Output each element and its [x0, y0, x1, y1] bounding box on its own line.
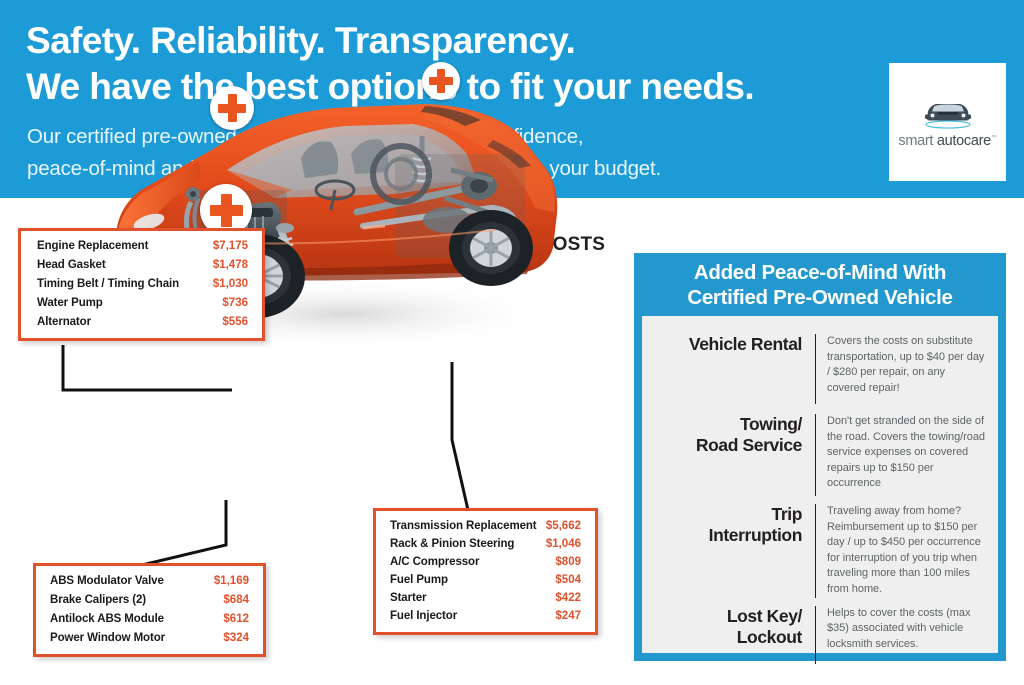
table-row: ABS Modulator Valve $1,169	[50, 575, 249, 587]
table-row: Fuel Injector $247	[390, 610, 581, 622]
table-row: Transmission Replacement $5,662	[390, 520, 581, 532]
cost-table-brakes: ABS Modulator Valve $1,169 Brake Caliper…	[33, 563, 266, 657]
plus-vertical-bar	[221, 194, 232, 227]
cost-value: $422	[555, 592, 581, 604]
cost-value: $504	[555, 574, 581, 586]
cost-table-engine: Engine Replacement $7,175 Head Gasket $1…	[18, 228, 265, 341]
benefit-term-line-1: Trip	[652, 504, 802, 525]
table-row: Rack & Pinion Steering $1,046	[390, 538, 581, 550]
cost-label: Starter	[390, 592, 426, 604]
cost-label: ABS Modulator Valve	[50, 575, 164, 587]
cost-value: $612	[223, 613, 249, 625]
cost-label: Power Window Motor	[50, 632, 165, 644]
cost-value: $1,046	[546, 538, 581, 550]
benefit-term-line-1: Lost Key/	[652, 606, 802, 627]
list-item: Lost Key/ Lockout Helps to cover the cos…	[652, 606, 986, 664]
benefits-panel: Added Peace-of-Mind With Certified Pre-O…	[634, 253, 1006, 661]
table-row: Power Window Motor $324	[50, 632, 249, 644]
brand-logo-light: smart	[898, 133, 936, 149]
benefit-term-line-1: Vehicle Rental	[652, 334, 802, 355]
benefit-term: Towing/ Road Service	[652, 414, 815, 457]
benefits-title-line-2: Certified Pre-Owned Vehicle	[687, 285, 952, 310]
table-row: A/C Compressor $809	[390, 556, 581, 568]
benefit-term: Vehicle Rental	[652, 334, 815, 355]
cost-value: $736	[222, 297, 248, 309]
benefits-panel-header: Added Peace-of-Mind With Certified Pre-O…	[642, 253, 998, 316]
table-row: Head Gasket $1,478	[37, 259, 248, 271]
table-row: Timing Belt / Timing Chain $1,030	[37, 278, 248, 290]
cost-label: Alternator	[37, 316, 91, 328]
benefits-title-line-1: Added Peace-of-Mind With	[694, 260, 946, 285]
cost-value: $1,169	[214, 575, 249, 587]
plus-vertical-bar	[228, 94, 237, 122]
cost-value: $1,478	[213, 259, 248, 271]
table-row: Starter $422	[390, 592, 581, 604]
cost-label: Rack & Pinion Steering	[390, 538, 514, 550]
cost-table-transmission: Transmission Replacement $5,662 Rack & P…	[373, 508, 598, 635]
benefit-description: Don't get stranded on the side of the ro…	[816, 414, 986, 492]
cost-label: Antilock ABS Module	[50, 613, 164, 625]
plus-vertical-bar	[437, 69, 445, 93]
cost-label: Head Gasket	[37, 259, 106, 271]
benefit-term: Lost Key/ Lockout	[652, 606, 815, 649]
brand-logo-bold: autocare	[937, 133, 991, 149]
cost-label: Fuel Pump	[390, 574, 448, 586]
cost-value: $684	[223, 594, 249, 606]
table-row: Fuel Pump $504	[390, 574, 581, 586]
hotspot-marker-transmission[interactable]	[422, 62, 460, 100]
benefit-term-line-2: Lockout	[652, 627, 802, 648]
benefit-term-line-2: Road Service	[652, 435, 802, 456]
benefits-list: Vehicle Rental Covers the costs on subst…	[642, 316, 998, 653]
infographic-page: Safety. Reliability. Transparency. We ha…	[0, 0, 1024, 685]
hotspot-marker-engine[interactable]	[210, 86, 254, 130]
cost-value: $556	[222, 316, 248, 328]
cost-label: Transmission Replacement	[390, 520, 537, 532]
cost-value: $247	[555, 610, 581, 622]
benefit-description: Traveling away from home? Reimbursement …	[816, 504, 986, 598]
list-item: Vehicle Rental Covers the costs on subst…	[652, 334, 986, 404]
cost-value: $809	[555, 556, 581, 568]
cost-value: $1,030	[213, 278, 248, 290]
cost-value: $324	[223, 632, 249, 644]
headline-line-1: Safety. Reliability. Transparency.	[26, 20, 575, 62]
cost-label: Water Pump	[37, 297, 103, 309]
car-logo-icon	[918, 96, 978, 130]
cost-label: Timing Belt / Timing Chain	[37, 278, 179, 290]
list-item: Towing/ Road Service Don't get stranded …	[652, 414, 986, 496]
benefit-description: Helps to cover the costs (max $35) assoc…	[816, 606, 986, 653]
table-row: Engine Replacement $7,175	[37, 240, 248, 252]
table-row: Antilock ABS Module $612	[50, 613, 249, 625]
cost-label: Engine Replacement	[37, 240, 148, 252]
brand-logo: smart autocare™	[889, 63, 1006, 181]
trademark-symbol: ™	[991, 135, 997, 141]
cost-label: Brake Calipers (2)	[50, 594, 146, 606]
cost-label: Fuel Injector	[390, 610, 457, 622]
cost-label: A/C Compressor	[390, 556, 479, 568]
rear-wheel	[449, 210, 533, 286]
benefit-term-line-1: Towing/	[652, 414, 802, 435]
benefit-term-line-2: Interruption	[652, 525, 802, 546]
benefit-term: Trip Interruption	[652, 504, 815, 547]
table-row: Water Pump $736	[37, 297, 248, 309]
table-row: Brake Calipers (2) $684	[50, 594, 249, 606]
table-row: Alternator $556	[37, 316, 248, 328]
cost-value: $7,175	[213, 240, 248, 252]
benefit-description: Covers the costs on substitute transport…	[816, 334, 986, 396]
brand-logo-text: smart autocare™	[898, 133, 996, 149]
list-item: Trip Interruption Traveling away from ho…	[652, 504, 986, 598]
cost-value: $5,662	[546, 520, 581, 532]
